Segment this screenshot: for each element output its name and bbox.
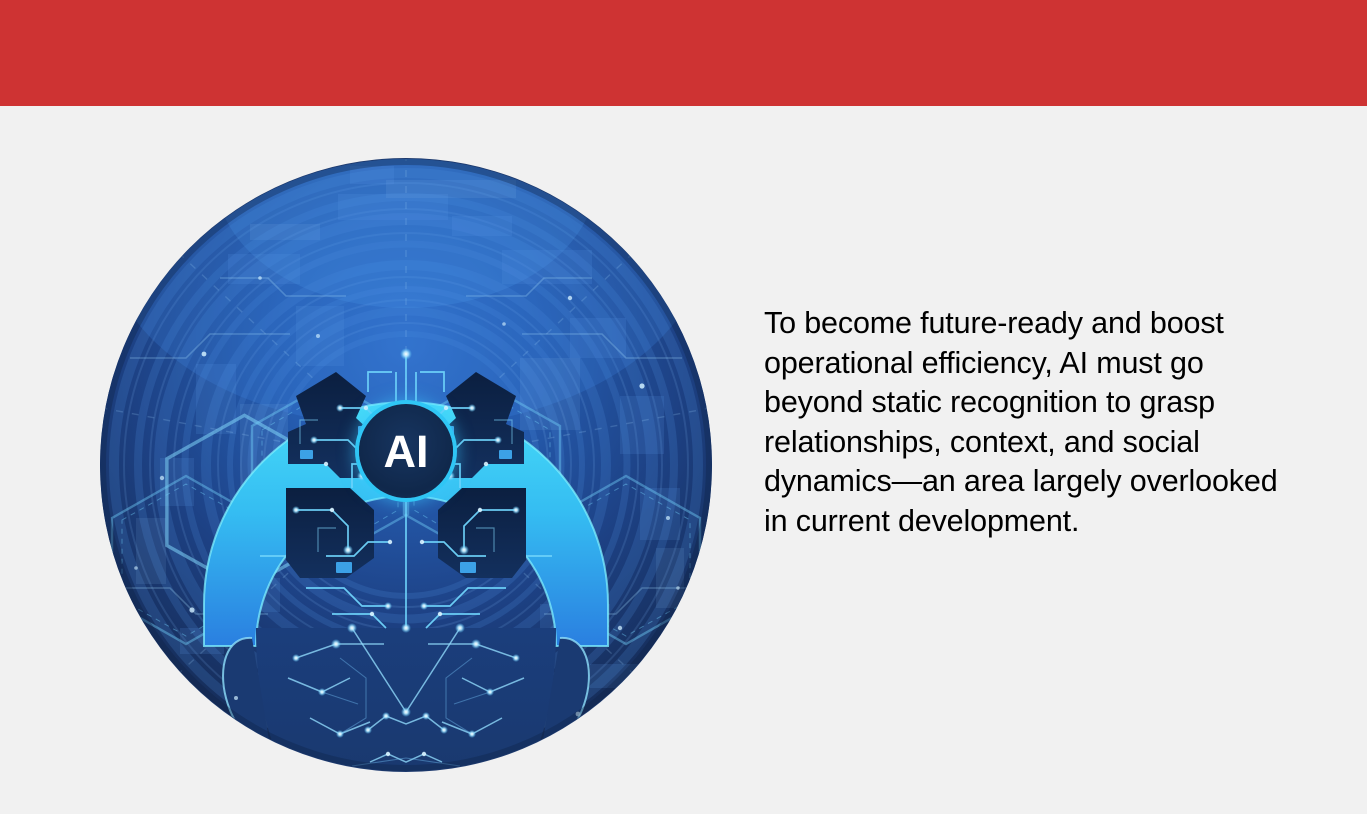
red-banner <box>0 0 1367 106</box>
slide-canvas: AI To become future-ready and boost oper… <box>0 0 1367 814</box>
body-paragraph: To become future-ready and boost operati… <box>764 304 1294 542</box>
ai-head-circuit-illustration: AI <box>100 158 712 772</box>
ai-graphic-svg <box>100 158 712 772</box>
